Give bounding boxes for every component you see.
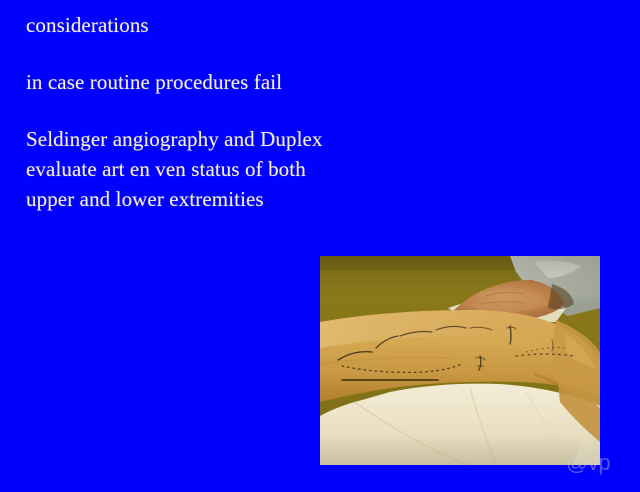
- slide-paragraph: Seldinger angiography and Duplex evaluat…: [26, 124, 446, 214]
- slide-text-block: considerations in case routine procedure…: [26, 10, 446, 214]
- presentation-slide: considerations in case routine procedure…: [0, 0, 640, 492]
- slide-line-body-1: Seldinger angiography and Duplex: [26, 124, 446, 154]
- slide-line-body-3: upper and lower extremities: [26, 184, 446, 214]
- clinical-photograph: [320, 256, 600, 465]
- slide-line-heading: considerations: [26, 10, 446, 40]
- slide-line-subheading: in case routine procedures fail: [26, 67, 446, 97]
- clinical-photograph-image: [320, 256, 600, 465]
- slide-line-body-2: evaluate art en ven status of both: [26, 154, 446, 184]
